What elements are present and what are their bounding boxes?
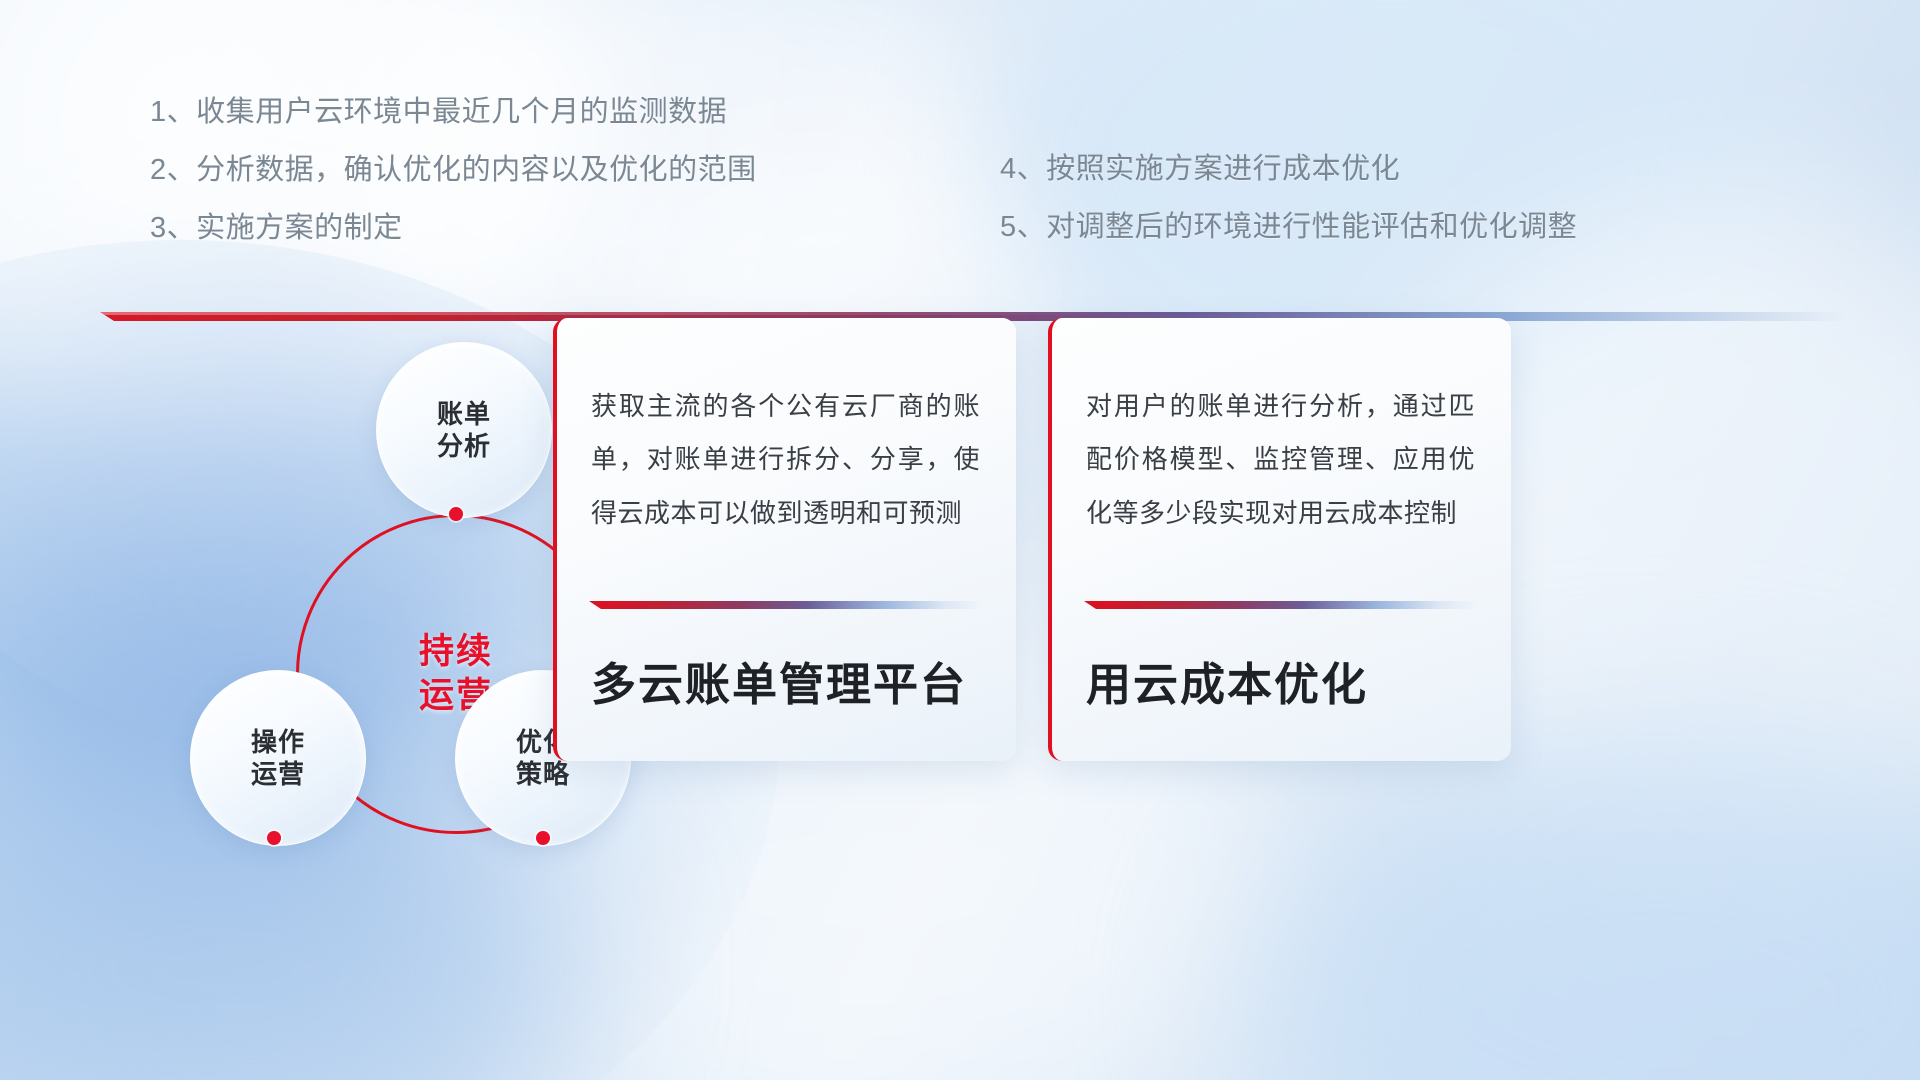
list-item: 3、 实施方案的制定: [150, 214, 757, 243]
list-item-label: 按照实施方案进行成本优化: [1046, 155, 1400, 184]
card-body-text: 对用户的账单进行分析，通过匹配价格模型、监控管理、应用优化等多少段实现对用云成本…: [1086, 380, 1475, 540]
steps-list: 1、 收集用户云环境中最近几个月的监测数据 2、 分析数据，确认优化的内容以及优…: [0, 0, 1920, 260]
list-item-number: 2、: [150, 156, 196, 185]
venn-node-dot-icon: [267, 831, 281, 845]
venn-bubble-line2: 分析: [437, 430, 491, 463]
info-card-multicloud-billing[interactable]: 获取主流的各个公有云厂商的账单，对账单进行拆分、分享，使得云成本可以做到透明和可…: [553, 318, 1016, 761]
venn-node-dot-icon: [536, 831, 550, 845]
list-item-number: 4、: [1000, 155, 1046, 184]
list-item-number: 1、: [150, 98, 196, 127]
card-divider: [589, 601, 984, 609]
list-item-label: 实施方案的制定: [196, 214, 403, 243]
list-item: 2、 分析数据，确认优化的内容以及优化的范围: [150, 156, 757, 185]
list-item-number: 3、: [150, 214, 196, 243]
venn-bubble-line1: 操作: [251, 726, 305, 759]
venn-bubble-line1: 账单: [437, 398, 491, 431]
list-item: 1、 收集用户云环境中最近几个月的监测数据: [150, 98, 757, 127]
list-item-number: 5、: [1000, 213, 1046, 242]
venn-bubble-line2: 运营: [251, 758, 305, 791]
steps-right-column: 4、 按照实施方案进行成本优化 5、 对调整后的环境进行性能评估和优化调整: [1000, 155, 1577, 271]
card-body-text: 获取主流的各个公有云厂商的账单，对账单进行拆分、分享，使得云成本可以做到透明和可…: [591, 380, 980, 540]
list-item-label: 对调整后的环境进行性能评估和优化调整: [1046, 213, 1577, 242]
list-item-label: 分析数据，确认优化的内容以及优化的范围: [196, 156, 757, 185]
venn-bubble-billing-analysis[interactable]: 账单 分析: [376, 342, 552, 518]
card-title: 用云成本优化: [1086, 660, 1368, 710]
info-card-cloud-cost-optimization[interactable]: 对用户的账单进行分析，通过匹配价格模型、监控管理、应用优化等多少段实现对用云成本…: [1048, 318, 1511, 761]
list-item-label: 收集用户云环境中最近几个月的监测数据: [196, 98, 727, 127]
venn-node-dot-icon: [449, 507, 463, 521]
list-item: 4、 按照实施方案进行成本优化: [1000, 155, 1577, 184]
card-divider: [1084, 601, 1479, 609]
venn-bubble-line2: 策略: [516, 758, 570, 791]
card-title: 多云账单管理平台: [591, 660, 967, 710]
list-item: 5、 对调整后的环境进行性能评估和优化调整: [1000, 213, 1577, 242]
venn-bubble-operations[interactable]: 操作 运营: [190, 670, 366, 846]
venn-center-line1: 持续: [419, 630, 493, 674]
steps-left-column: 1、 收集用户云环境中最近几个月的监测数据 2、 分析数据，确认优化的内容以及优…: [150, 98, 757, 272]
